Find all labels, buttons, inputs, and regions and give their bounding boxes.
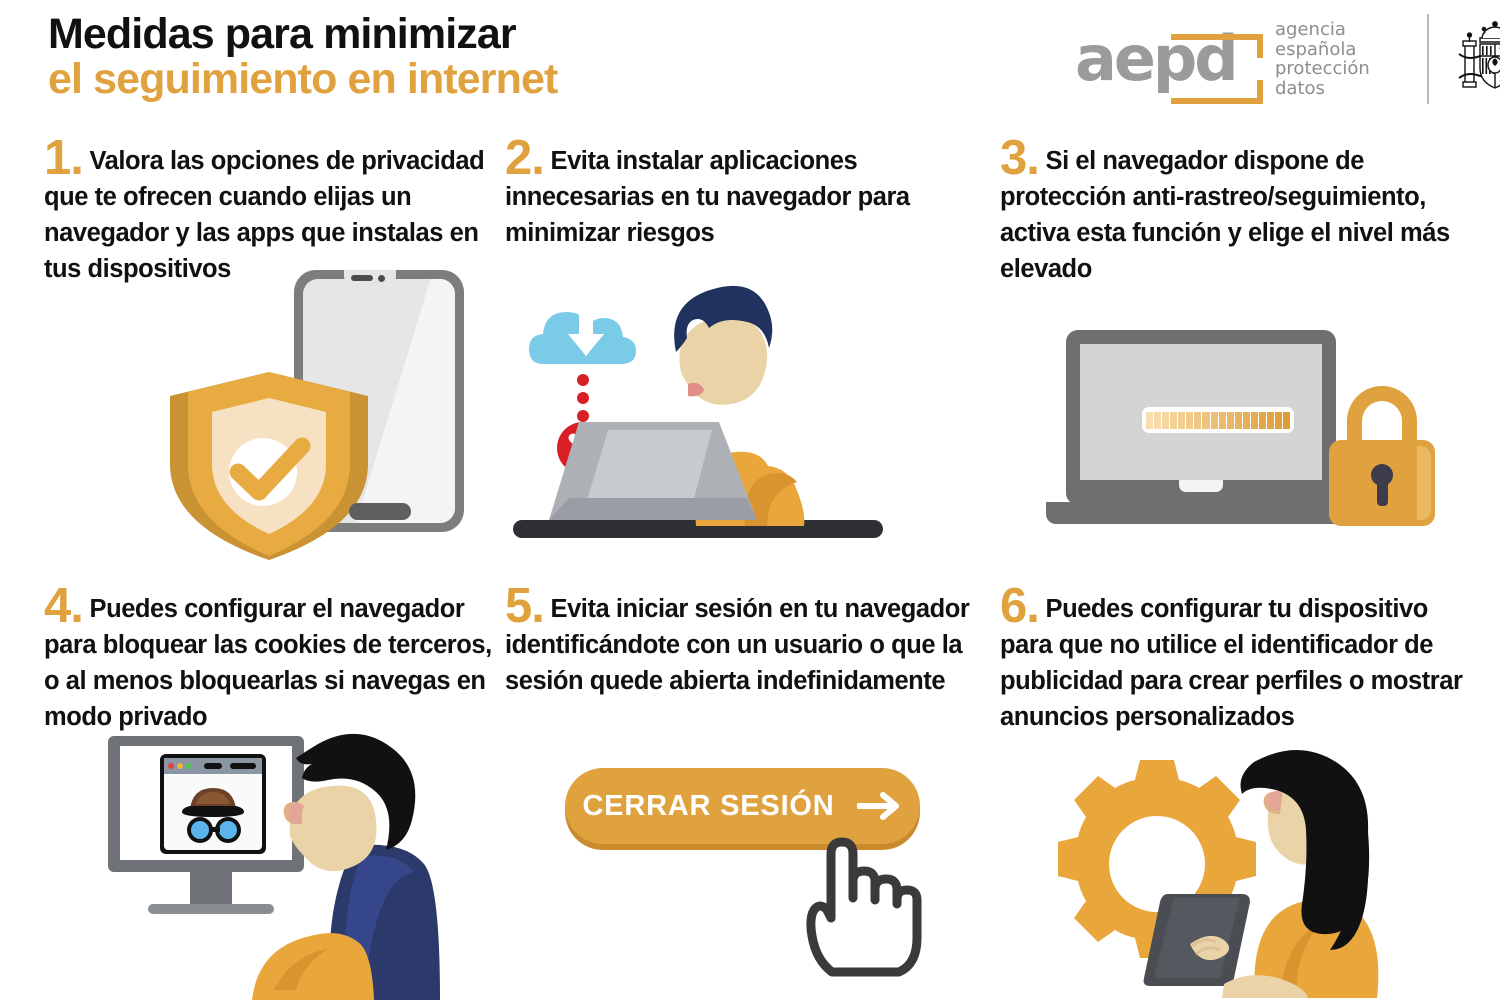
item-2-text-block: 2. Evita instalar aplicaciones innecesar… — [505, 140, 975, 251]
item-2: 2. Evita instalar aplicaciones innecesar… — [505, 140, 975, 570]
cloud-download-icon — [529, 304, 636, 364]
phone-home-button — [349, 503, 411, 520]
agency-name: agencia española protección datos — [1275, 20, 1370, 98]
hand-pointer-cursor-icon — [790, 820, 925, 980]
illustration-laptop-padlock — [1046, 330, 1446, 560]
progress-segment — [1283, 412, 1290, 429]
agency-name-line-2: española — [1275, 40, 1370, 60]
illustration-incognito-desk — [104, 728, 504, 1000]
agency-name-line-4: datos — [1275, 79, 1370, 99]
agency-name-line-3: protección — [1275, 59, 1370, 79]
item-2-number: 2. — [505, 131, 544, 185]
laptop-screen — [1080, 344, 1322, 480]
item-3-text-block: 3. Si el navegador dispone de protección… — [1000, 140, 1470, 287]
item-1-text-block: 1. Valora las opciones de privacidad que… — [44, 140, 504, 287]
item-1: 1. Valora las opciones de privacidad que… — [44, 140, 504, 570]
aepd-logo: aepd agencia española protección datos — [1075, 8, 1475, 108]
progress-segment — [1178, 412, 1185, 429]
page-title: Medidas para minimizar el seguimiento en… — [48, 12, 557, 102]
laptop-lip — [1179, 480, 1223, 492]
header: Medidas para minimizar el seguimiento en… — [0, 0, 1500, 120]
item-6-text-block: 6. Puedes configurar tu dispositivo para… — [1000, 588, 1470, 735]
item-1-number: 1. — [44, 131, 83, 185]
item-4-text-block: 4. Puedes configurar el navegador para b… — [44, 588, 504, 735]
progress-segment — [1211, 412, 1218, 429]
item-5: 5. Evita iniciar sesión en tu navegador … — [505, 588, 975, 1000]
item-1-text: Valora las opciones de privacidad que te… — [44, 147, 484, 283]
item-3-text: Si el navegador dispone de protección an… — [1000, 147, 1450, 283]
illustration-logout-button: CERRAR SESIÓN — [555, 758, 955, 978]
progress-segment — [1267, 412, 1274, 429]
title-line-1: Medidas para minimizar — [48, 12, 557, 57]
progress-segment — [1146, 412, 1153, 429]
incognito-browser-window — [160, 754, 266, 854]
title-line-2: el seguimiento en internet — [48, 57, 557, 102]
progress-segment — [1219, 412, 1226, 429]
illustration-gear-woman-tablet — [1040, 748, 1460, 998]
logo-bracket-top-icon — [1171, 34, 1263, 58]
padlock-icon — [1321, 386, 1443, 526]
progress-segment — [1186, 412, 1193, 429]
agency-name-line-1: agencia — [1275, 20, 1370, 40]
item-6-number: 6. — [1000, 579, 1039, 633]
arrow-right-icon — [857, 791, 903, 821]
progress-segment — [1154, 412, 1161, 429]
padlock-highlight — [1417, 446, 1431, 520]
progress-segment — [1259, 412, 1266, 429]
item-5-number: 5. — [505, 579, 544, 633]
item-3-number: 3. — [1000, 131, 1039, 185]
phone-camera-icon — [378, 275, 385, 282]
logo-divider — [1427, 14, 1429, 104]
laptop-icon — [1066, 330, 1336, 505]
progress-bar — [1142, 407, 1294, 433]
illustration-phone-shield — [164, 270, 494, 570]
item-3: 3. Si el navegador dispone de protección… — [1000, 140, 1470, 570]
item-5-text-block: 5. Evita iniciar sesión en tu navegador … — [505, 588, 975, 699]
progress-segment — [1251, 412, 1258, 429]
item-2-text: Evita instalar aplicaciones innecesarias… — [505, 147, 910, 247]
logout-button-label: CERRAR SESIÓN — [582, 790, 834, 823]
logo-bracket-bottom-icon — [1171, 80, 1263, 104]
aepd-wordmark: aepd — [1075, 18, 1265, 98]
infographic-page: Medidas para minimizar el seguimiento en… — [0, 0, 1500, 1000]
progress-segment — [1227, 412, 1234, 429]
progress-segment — [1194, 412, 1201, 429]
laptop-icon — [549, 422, 757, 520]
item-6-text: Puedes configurar tu dispositivo para qu… — [1000, 595, 1462, 731]
progress-segment — [1243, 412, 1250, 429]
progress-segment — [1170, 412, 1177, 429]
shield-check-icon — [164, 368, 374, 564]
progress-segment — [1275, 412, 1282, 429]
item-4-number: 4. — [44, 579, 83, 633]
item-6: 6. Puedes configurar tu dispositivo para… — [1000, 588, 1470, 1000]
item-5-text: Evita iniciar sesión en tu navegador ide… — [505, 595, 969, 695]
padlock-keyhole-slot — [1377, 480, 1388, 506]
laptop-base — [1046, 502, 1356, 524]
phone-speaker-icon — [351, 275, 373, 281]
spanish-coat-of-arms-icon — [1453, 18, 1500, 104]
item-4-text: Puedes configurar el navegador para bloq… — [44, 595, 492, 731]
item-4: 4. Puedes configurar el navegador para b… — [44, 588, 504, 1000]
progress-segment — [1235, 412, 1242, 429]
progress-segment — [1202, 412, 1209, 429]
progress-segment — [1162, 412, 1169, 429]
illustration-blocked-download — [513, 268, 883, 548]
